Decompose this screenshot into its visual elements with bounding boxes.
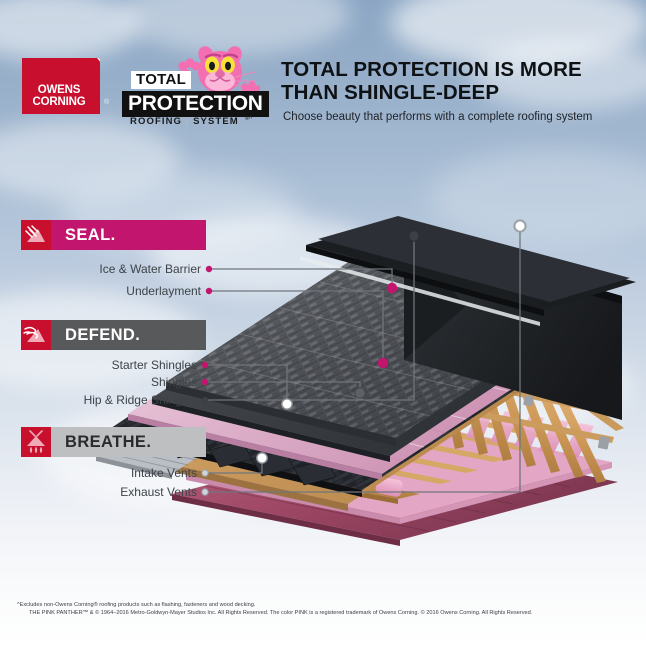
section-label-seal: SEAL. — [51, 220, 206, 250]
page-title: TOTAL PROTECTION IS MORE THAN SHINGLE-DE… — [281, 58, 641, 104]
callout-ice-water-barrier: Ice & Water Barrier — [99, 263, 201, 275]
owens-corning-registered-mark: ® — [104, 99, 109, 106]
section-label-breathe: BREATHE. — [51, 427, 206, 457]
owens-corning-line2: CORNING — [22, 97, 96, 109]
roof-vent-arrows-icon — [21, 427, 51, 457]
owens-corning-wordmark: OWENS CORNING — [22, 85, 96, 108]
callout-intake-vents: Intake Vents — [131, 467, 197, 479]
callout-exhaust-vents: Exhaust Vents — [120, 486, 197, 498]
total-protection-registered-mark: ®^ — [245, 116, 252, 122]
footer-disclaimer: ^Excludes non-Owens Corning® roofing pro… — [17, 601, 637, 617]
callout-underlayment: Underlayment — [126, 285, 201, 297]
headline-line-1: TOTAL PROTECTION IS MORE — [281, 58, 641, 81]
owens-corning-logo: OWENS CORNING — [22, 58, 100, 114]
footnote-line-1: ^Excludes non-Owens Corning® roofing pro… — [17, 601, 637, 609]
roof-rain-icon — [21, 220, 51, 250]
section-banner-breathe: BREATHE. — [21, 427, 206, 457]
protection-wordmark: PROTECTION — [122, 91, 269, 117]
callout-hip-ridge-shingles: Hip & Ridge Shingles — [84, 394, 197, 406]
callout-shingles: Shingles — [151, 376, 197, 388]
total-protection-logo: TOTAL PROTECTION ROOFING | SYSTEM ®^ — [118, 46, 258, 122]
roof-wind-icon — [21, 320, 51, 350]
section-banner-seal: SEAL. — [21, 220, 206, 250]
page-subtitle: Choose beauty that performs with a compl… — [283, 110, 645, 124]
tagline-divider: | — [186, 116, 190, 127]
headline-line-2: THAN SHINGLE-DEEP — [281, 81, 641, 104]
infographic-canvas: OWENS CORNING ® — [0, 0, 646, 646]
roofing-word: ROOFING — [130, 116, 182, 127]
section-banner-defend: DEFEND. — [21, 320, 206, 350]
section-label-defend: DEFEND. — [51, 320, 206, 350]
owens-corning-line1: OWENS — [22, 85, 96, 97]
callout-starter-shingles: Starter Shingles — [112, 359, 197, 371]
footnote-line-2: THE PINK PANTHER™ & © 1964–2016 Metro-Go… — [17, 609, 637, 617]
roofing-system-tagline: ROOFING | SYSTEM — [130, 116, 239, 127]
system-word: SYSTEM — [193, 116, 239, 127]
total-wordmark: TOTAL — [131, 71, 191, 89]
